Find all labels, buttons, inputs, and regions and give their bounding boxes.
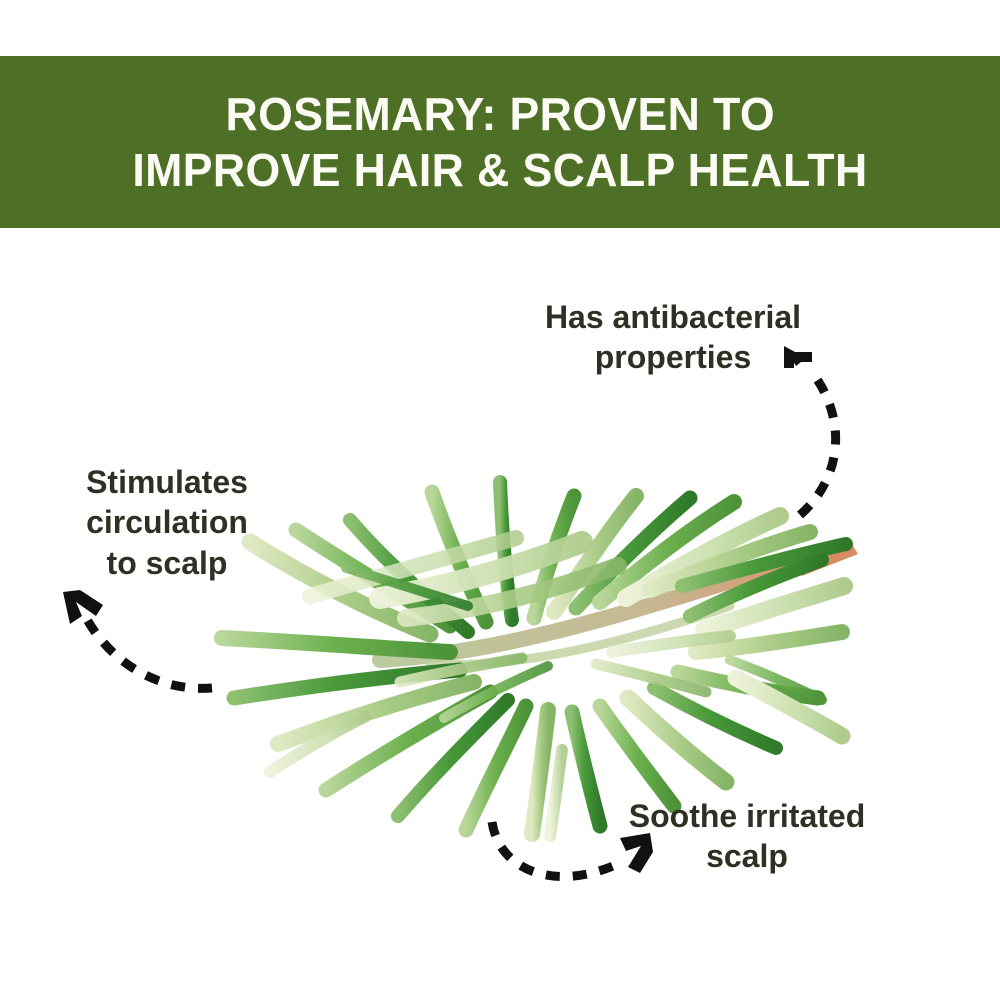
callout-soothe: Soothe irritated scalp [592,796,902,877]
callout-soothe-line-1: Soothe irritated [592,796,902,836]
callout-antibacterial-line-1: Has antibacterial [508,297,838,337]
page-title-line-1: ROSEMARY: PROVEN TO [225,86,774,142]
callout-circulation-line-2: circulation [48,502,286,542]
callout-circulation-line-3: to scalp [48,543,286,583]
callout-circulation-line-1: Stimulates [48,462,286,502]
callout-antibacterial: Has antibacterial properties [508,297,838,378]
callout-circulation: Stimulates circulation to scalp [48,462,286,583]
page-title-line-2: IMPROVE HAIR & SCALP HEALTH [132,142,867,198]
header-banner: ROSEMARY: PROVEN TO IMPROVE HAIR & SCALP… [0,56,1000,228]
callout-antibacterial-line-2: properties [508,337,838,377]
infographic-canvas: ROSEMARY: PROVEN TO IMPROVE HAIR & SCALP… [0,0,1000,1000]
callout-soothe-line-2: scalp [592,836,902,876]
